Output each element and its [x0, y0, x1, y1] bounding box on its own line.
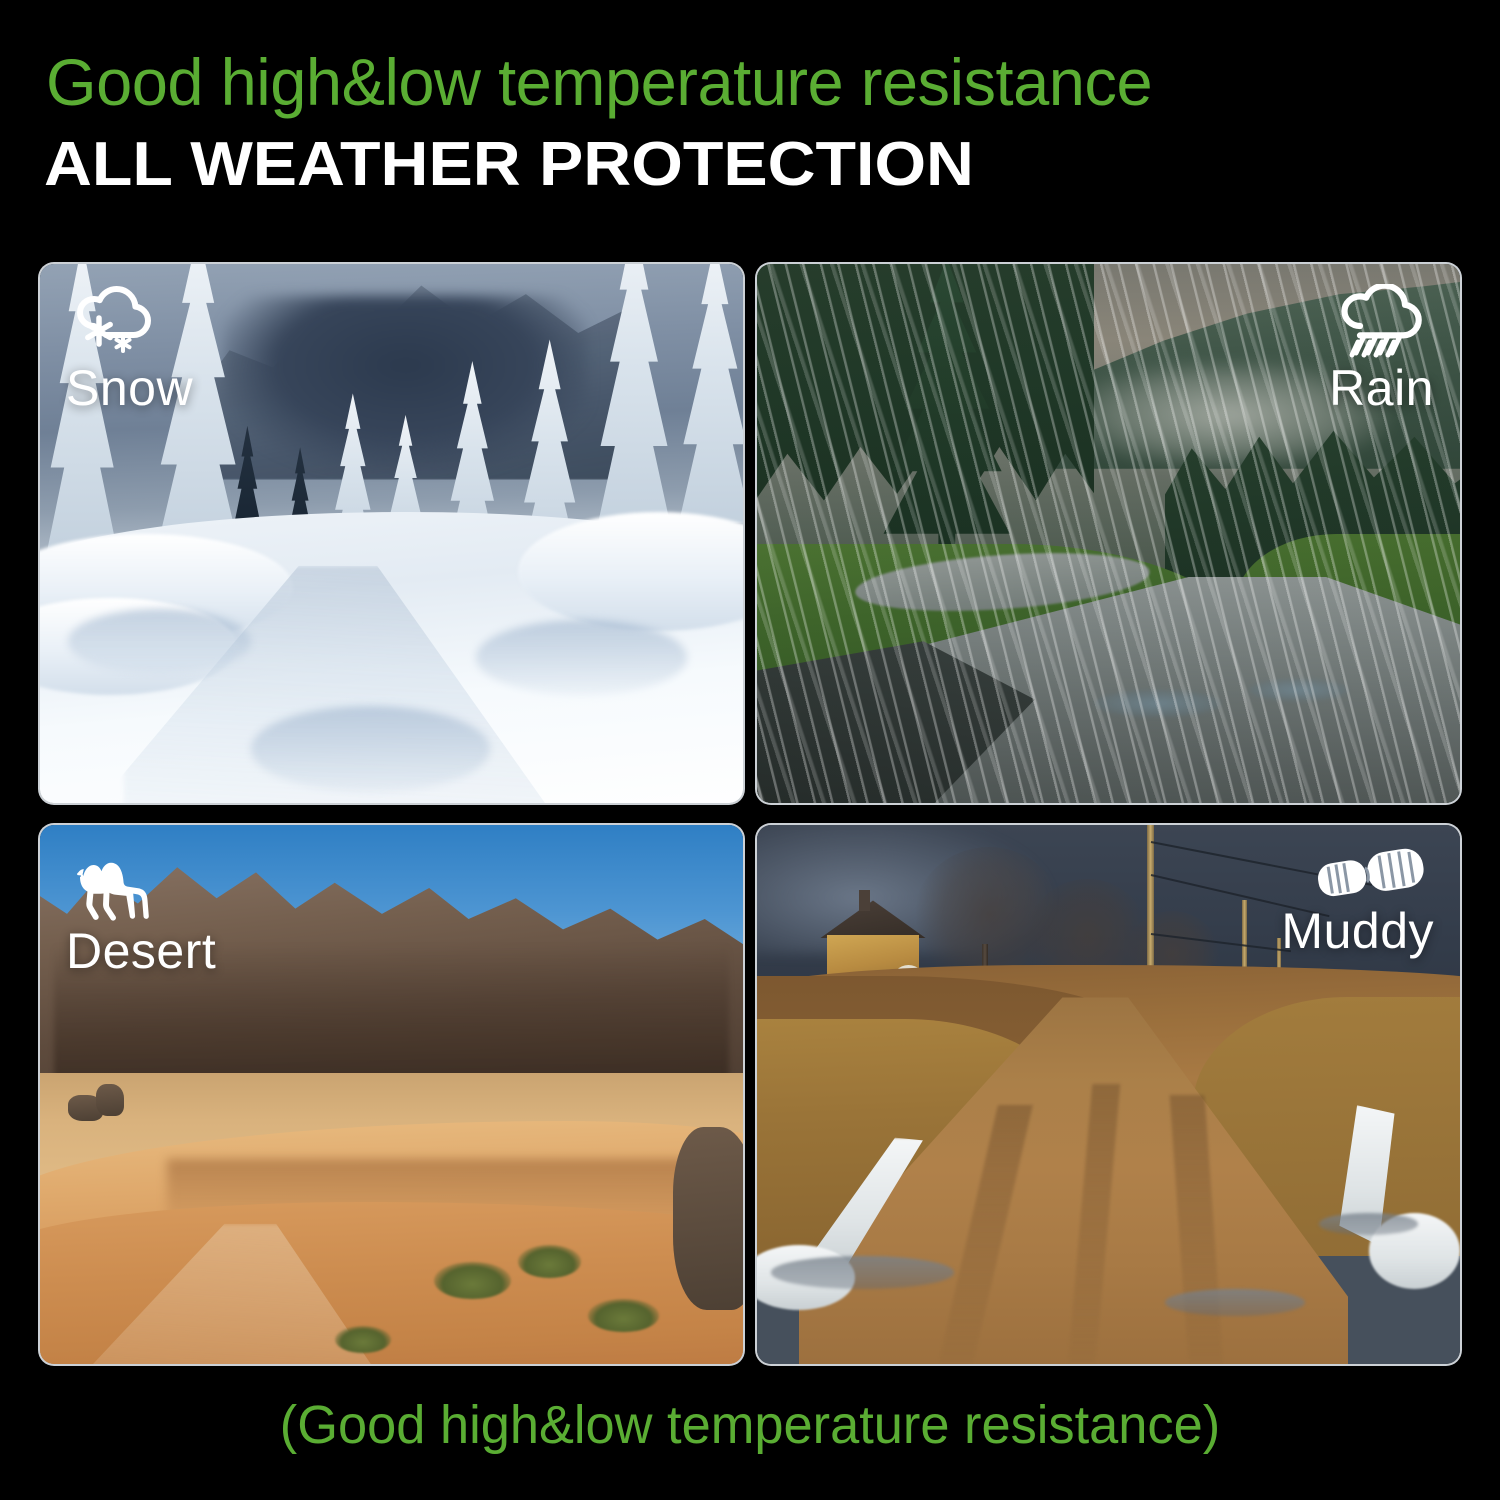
footer-caption: (Good high&low temperature resistance)	[23, 1392, 1478, 1458]
cloud-rain-icon	[1330, 284, 1434, 367]
page-title: ALL WEATHER PROTECTION	[44, 128, 1500, 202]
infographic-root: Good high&low temperature resistance ALL…	[0, 0, 1500, 1500]
desert-shrub	[518, 1245, 581, 1277]
farmhouse-chimney	[859, 890, 870, 912]
tagline-heading: Good high&low temperature resistance	[46, 44, 1445, 120]
muddy-label-block: Muddy	[1281, 845, 1434, 958]
boot-print-icon	[1310, 845, 1434, 910]
snow-label: Snow	[66, 361, 193, 415]
snow-shadow-patch	[476, 620, 687, 695]
weather-panel-desert[interactable]: Desert	[38, 823, 745, 1366]
weather-panel-rain[interactable]: Rain	[755, 262, 1462, 805]
snow-label-block: Snow	[66, 286, 193, 415]
snow-shadow-patch	[251, 706, 490, 792]
snow-shadow-patch	[68, 609, 251, 674]
desert-label-block: Desert	[66, 847, 216, 978]
muddy-label: Muddy	[1281, 904, 1434, 958]
weather-panel-muddy[interactable]: Muddy	[755, 823, 1462, 1366]
rain-label-block: Rain	[1329, 284, 1434, 415]
road-puddle	[1165, 1289, 1306, 1316]
desert-label: Desert	[66, 924, 216, 978]
camel-icon	[66, 847, 170, 928]
cloud-snow-icon	[66, 286, 162, 365]
desert-shrub	[588, 1299, 658, 1331]
desert-boulder	[673, 1127, 743, 1310]
desert-shrub	[434, 1262, 511, 1300]
road-puddle	[1319, 1213, 1417, 1235]
road-puddle	[771, 1256, 954, 1288]
desert-boulder	[96, 1084, 124, 1116]
weather-panel-grid: Snow	[38, 262, 1462, 1366]
rain-label: Rain	[1329, 361, 1434, 415]
weather-panel-snow[interactable]: Snow	[38, 262, 745, 805]
